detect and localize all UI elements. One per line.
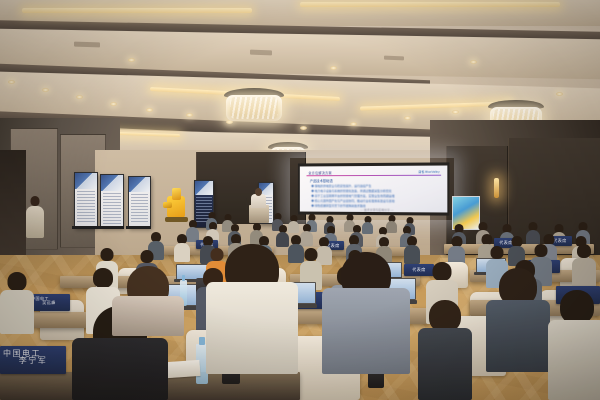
slide-bullet: ◆ 基于工业互联网平台的智能电气管理方案，实现全生命周期运维 — [311, 194, 394, 198]
slide-bullet: ◆ 核心元器件国产化与产业链协同，推动行业标准体系建设与落地 — [311, 199, 394, 203]
slide-bullet: ◆ 电力电子设备与系统的智能化改造，并通过数据采集分析优化 — [311, 189, 391, 193]
speaker-person — [251, 194, 266, 208]
slide-bullet: ◆ 绿色低碳转型背景下的节能降耗技术路线 — [311, 204, 365, 208]
placard-text: 代表席 — [412, 267, 426, 273]
projection-screen: 全方位解决方案 蓝谷 BlueValley 产品技术基础语 ◆ 保电的供电安全与… — [298, 162, 449, 215]
placard-text-foreground: 李宁军 — [19, 355, 48, 366]
slide-divider — [307, 174, 441, 176]
equipment-display — [163, 188, 191, 222]
conference-hall-photo: 全方位解决方案 蓝谷 BlueValley 产品技术基础语 ◆ 保电的供电安全与… — [0, 0, 600, 400]
slide-footer: — 技术交流与应用分享 — — [360, 208, 393, 212]
foreground-attendee — [548, 290, 600, 400]
roll-up-banner — [100, 174, 124, 228]
foreground-attendee — [486, 268, 550, 372]
name-placard-foreground: 中国电工 李宁军 — [0, 346, 66, 374]
chandelier-left — [224, 88, 284, 122]
roll-up-banner — [128, 176, 151, 228]
curtain-far-left — [0, 150, 26, 262]
placard-text: 吴远峰 — [42, 300, 56, 306]
foreground-attendee — [418, 300, 472, 400]
speaker-head — [255, 188, 262, 196]
standing-attendee-left — [26, 196, 44, 238]
name-placard: 中国电工 吴远峰 — [28, 294, 70, 311]
foreground-attendee — [206, 244, 298, 374]
roll-up-banner — [74, 172, 98, 228]
wall-sconce — [494, 178, 499, 198]
mic-stand — [246, 198, 247, 210]
foreground-attendee — [112, 266, 184, 336]
foreground-attendee — [322, 252, 410, 374]
slide-bullet: ◆ 保电的供电安全与稳定性提升，运行连续产生 — [311, 184, 371, 188]
projection-screen-surface: 全方位解决方案 蓝谷 BlueValley 产品技术基础语 ◆ 保电的供电安全与… — [300, 165, 448, 212]
slide-heading: 产品技术基础语 — [310, 178, 333, 183]
slide-logo: 蓝谷 BlueValley — [418, 169, 439, 173]
